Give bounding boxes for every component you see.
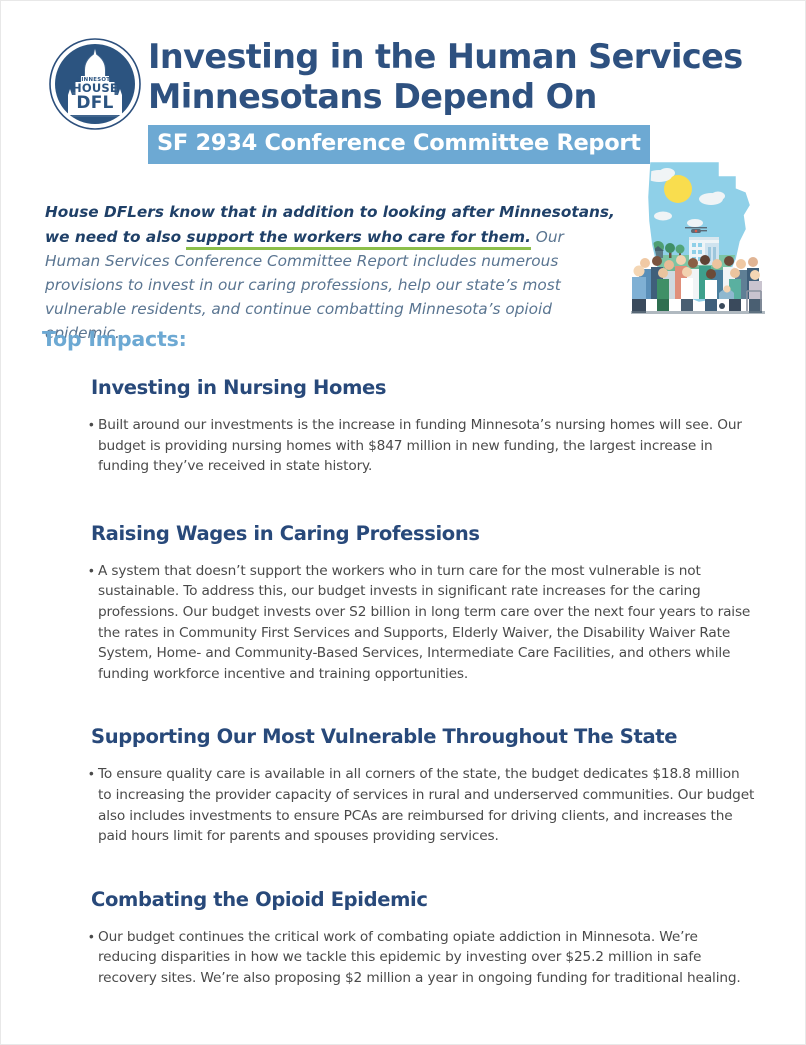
section-heading: Supporting Our Most Vulnerable Throughou… bbox=[91, 724, 805, 750]
list-item: • To ensure quality care is available in… bbox=[89, 764, 755, 846]
minnesota-healthcare-workers-illustration bbox=[623, 159, 775, 319]
page-title-line-1: Investing in the Human Services bbox=[148, 37, 743, 76]
section-heading: Combating the Opioid Epidemic bbox=[91, 887, 805, 913]
impact-sections: Investing in Nursing Homes • Built aroun… bbox=[1, 375, 805, 989]
title-block: Investing in the Human Services Minnesot… bbox=[148, 37, 765, 164]
bullet-icon: • bbox=[89, 561, 98, 685]
bill-banner: SF 2934 Conference Committee Report bbox=[148, 125, 650, 164]
list-item: • Our budget continues the critical work… bbox=[89, 927, 755, 989]
document-page: MINNESOTA HOUSE DFL Investing in the Hum… bbox=[0, 0, 806, 1045]
document-header: MINNESOTA HOUSE DFL Investing in the Hum… bbox=[1, 1, 805, 181]
bullet-text: A system that doesn’t support the worker… bbox=[98, 561, 755, 685]
intro-paragraph: House DFLers know that in addition to lo… bbox=[45, 200, 615, 345]
bullet-text: To ensure quality care is available in a… bbox=[98, 764, 755, 846]
section-heading: Raising Wages in Caring Professions bbox=[91, 521, 805, 547]
section-combating-the-opioid-epidemic: Combating the Opioid Epidemic • Our budg… bbox=[1, 887, 805, 989]
bullet-icon: • bbox=[89, 415, 98, 477]
logo-text-dfl: DFL bbox=[76, 93, 113, 113]
section-supporting-our-most-vulnerable: Supporting Our Most Vulnerable Throughou… bbox=[1, 724, 805, 846]
minnesota-house-dfl-logo: MINNESOTA HOUSE DFL bbox=[48, 37, 142, 131]
bullet-icon: • bbox=[89, 927, 98, 989]
page-title-line-2: Minnesotans Depend On bbox=[148, 77, 765, 117]
section-heading: Investing in Nursing Homes bbox=[91, 375, 805, 401]
list-item: • A system that doesn’t support the work… bbox=[89, 561, 755, 685]
top-impacts-label: Top Impacts: bbox=[42, 329, 187, 350]
intro-underlined-text: support the workers who care for them. bbox=[186, 228, 531, 250]
section-investing-in-nursing-homes: Investing in Nursing Homes • Built aroun… bbox=[1, 375, 805, 477]
bullet-text: Built around our investments is the incr… bbox=[98, 415, 755, 477]
bullet-icon: • bbox=[89, 764, 98, 846]
section-raising-wages-in-caring-professions: Raising Wages in Caring Professions • A … bbox=[1, 521, 805, 685]
page-title: Investing in the Human Services Minnesot… bbox=[148, 37, 765, 117]
list-item: • Built around our investments is the in… bbox=[89, 415, 755, 477]
bullet-text: Our budget continues the critical work o… bbox=[98, 927, 755, 989]
